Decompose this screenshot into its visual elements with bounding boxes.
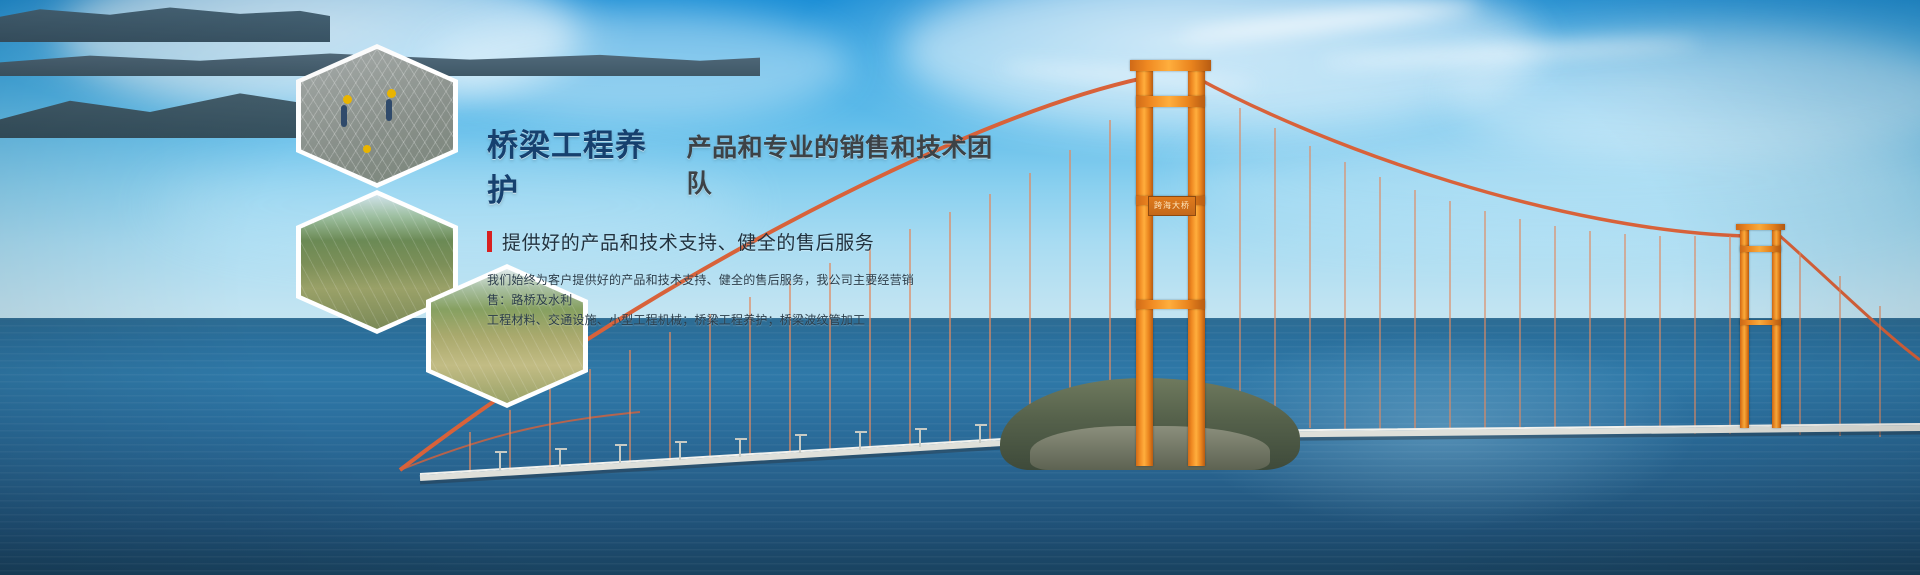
subheadline-text: 提供好的产品和技术支持、健全的售后服务 <box>502 228 874 255</box>
bridge-tower-cap <box>1736 224 1785 230</box>
bridge-tower-crossbeam <box>1136 96 1205 107</box>
hero-banner: 跨海大桥 桥梁工程养护 产品和专业的销售和技术团队 提供好的产品和技术支持、健全… <box>0 0 1920 575</box>
bridge-tower-main-leg <box>1136 66 1153 466</box>
worker-body <box>341 105 347 127</box>
bridge-tower-main-leg <box>1188 66 1205 466</box>
bridge-tower-crossbeam <box>1740 320 1781 325</box>
worker-helmet-icon <box>363 145 371 153</box>
headline-secondary: 产品和专业的销售和技术团队 <box>687 128 1007 200</box>
banner-text-block: 桥梁工程养护 产品和专业的销售和技术团队 提供好的产品和技术支持、健全的售后服务… <box>487 120 1007 330</box>
bridge-tower-secondary-leg <box>1740 228 1749 428</box>
banner-headline: 桥梁工程养护 产品和专业的销售和技术团队 <box>487 120 1007 210</box>
body-line-2: 工程材料、交通设施、小型工程机械；桥梁工程养护；桥梁波纹管加工 <box>487 310 917 330</box>
accent-bar <box>487 231 492 252</box>
worker-helmet-icon <box>387 89 396 98</box>
worker-helmet-icon <box>343 95 352 104</box>
headline-primary: 桥梁工程养护 <box>487 120 673 210</box>
bridge-tower-cap <box>1130 60 1211 71</box>
bridge-tower-secondary-leg <box>1772 228 1781 428</box>
banner-body-text: 我们始终为客户提供好的产品和技术支持、健全的售后服务，我公司主要经营销售：路桥及… <box>487 270 917 330</box>
banner-subheadline: 提供好的产品和技术支持、健全的售后服务 <box>487 228 1007 255</box>
body-line-1: 我们始终为客户提供好的产品和技术支持、健全的售后服务，我公司主要经营销售：路桥及… <box>487 270 917 310</box>
bridge-tower-crossbeam <box>1740 246 1781 252</box>
worker-body <box>386 99 392 121</box>
bridge-tower-sign: 跨海大桥 <box>1148 196 1196 216</box>
bridge-tower-crossbeam <box>1136 300 1205 309</box>
